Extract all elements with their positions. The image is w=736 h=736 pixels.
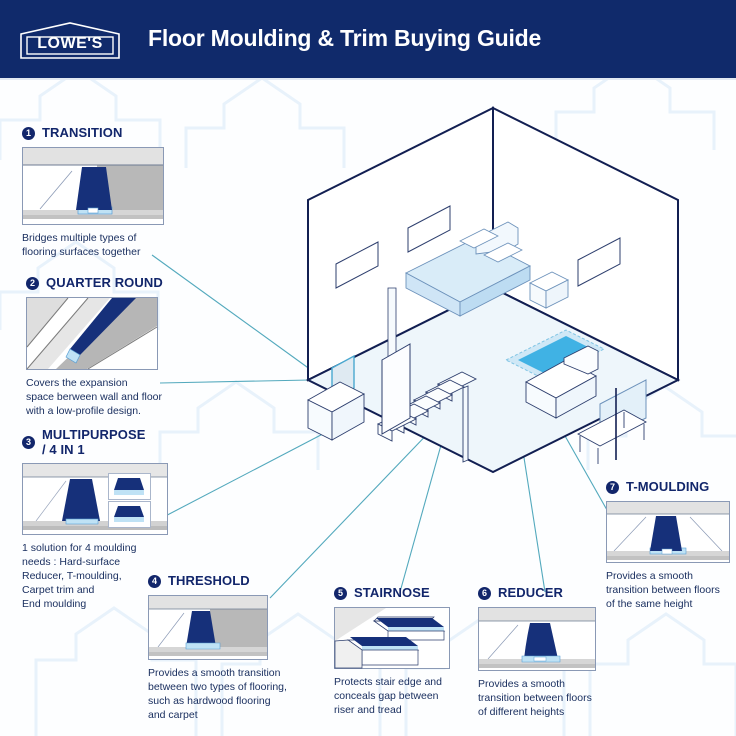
callout-number-badge: 7 — [606, 481, 619, 494]
house-svg — [278, 88, 708, 528]
callout-number-badge: 4 — [148, 575, 161, 588]
callout-number-badge: 6 — [478, 587, 491, 600]
callout-desc: Provides a smooth transition between flo… — [478, 677, 618, 719]
callout-quarter-round[interactable]: 2 QUARTER ROUND Covers the expansion spa… — [26, 276, 194, 418]
callout-title: QUARTER ROUND — [46, 276, 163, 291]
callout-title: MULTIPURPOSE / 4 IN 1 — [42, 428, 146, 457]
callout-head: 3 MULTIPURPOSE / 4 IN 1 — [22, 428, 172, 457]
t-moulding-profile-figure — [606, 501, 730, 563]
transition-profile-figure — [22, 147, 164, 225]
callout-number-badge: 3 — [22, 436, 35, 449]
callout-t-moulding[interactable]: 7 T-MOULDING Provides a smooth transitio… — [606, 480, 736, 611]
callout-transition[interactable]: 1 TRANSITION Bridges multiple types of f… — [22, 126, 182, 259]
lowes-logo-text: LOWE'S — [18, 22, 122, 60]
callout-head: 2 QUARTER ROUND — [26, 276, 194, 291]
reducer-profile-figure — [478, 607, 596, 671]
multipurpose-profile-figure — [22, 463, 168, 535]
quarter-round-profile-figure — [26, 297, 158, 370]
infographic-root: LOWE'S Floor Moulding & Trim Buying Guid… — [0, 0, 736, 736]
callout-title: REDUCER — [498, 586, 563, 601]
callout-desc: Covers the expansion space berween wall … — [26, 376, 194, 418]
callout-title: TRANSITION — [42, 126, 122, 141]
callout-title: T-MOULDING — [626, 480, 709, 495]
page-header: LOWE'S Floor Moulding & Trim Buying Guid… — [0, 0, 736, 78]
callout-head: 4 THRESHOLD — [148, 574, 318, 589]
callout-title: THRESHOLD — [168, 574, 250, 589]
callout-number-badge: 1 — [22, 127, 35, 140]
isometric-cutaway-house — [278, 88, 708, 533]
callout-number-badge: 2 — [26, 277, 39, 290]
callout-head: 5 STAIRNOSE — [334, 586, 484, 601]
callout-desc: Provides a smooth transition between flo… — [606, 569, 736, 611]
callout-title: STAIRNOSE — [354, 586, 430, 601]
callout-head: 6 REDUCER — [478, 586, 618, 601]
stairnose-profile-figure — [334, 607, 450, 669]
callout-head: 7 T-MOULDING — [606, 480, 736, 495]
callout-threshold[interactable]: 4 THRESHOLD Provides a smooth transition… — [148, 574, 318, 722]
callout-desc: Bridges multiple types of flooring surfa… — [22, 231, 182, 259]
callout-number-badge: 5 — [334, 587, 347, 600]
callout-desc: Provides a smooth transition between two… — [148, 666, 318, 722]
callout-reducer[interactable]: 6 REDUCER Provides a smooth transition b… — [478, 586, 618, 719]
callout-stairnose[interactable]: 5 STAIRNOSE Protects stair edge and conc… — [334, 586, 484, 717]
threshold-profile-figure — [148, 595, 268, 660]
header-divider — [0, 78, 736, 80]
callout-head: 1 TRANSITION — [22, 126, 182, 141]
callout-desc: Protects stair edge and conceals gap bet… — [334, 675, 484, 717]
lowes-logo[interactable]: LOWE'S — [18, 22, 122, 60]
page-title: Floor Moulding & Trim Buying Guide — [148, 25, 541, 52]
